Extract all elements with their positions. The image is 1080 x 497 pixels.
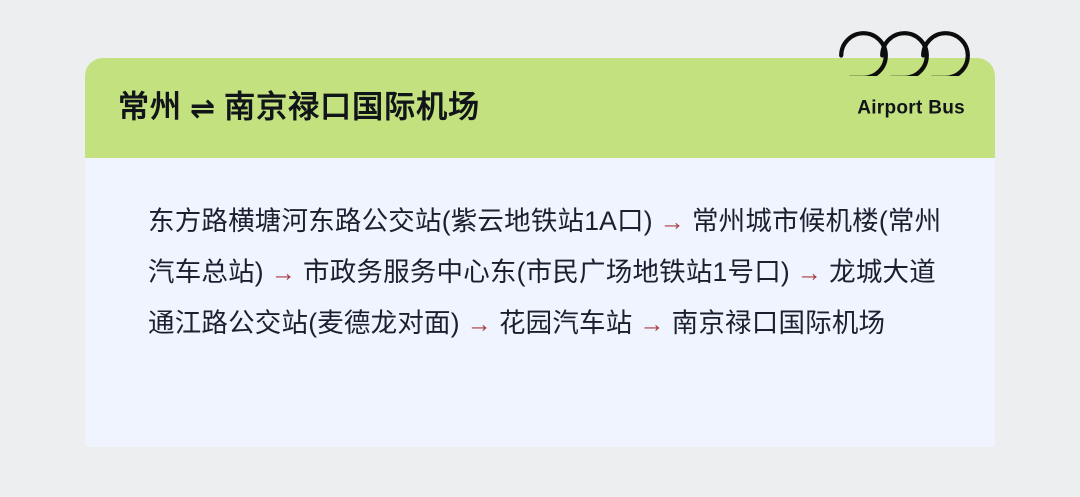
route-card-body: 东方路横塘河东路公交站(紫云地铁站1A口)→常州城市候机楼(常州汽车总站)→市政…: [85, 158, 995, 447]
arrow-right-icon: →: [264, 259, 303, 287]
three-arcs-logo-icon: [838, 26, 970, 76]
route-stop: 市政务服务中心东(市民广场地铁站1号口): [303, 257, 790, 287]
arrow-right-icon: →: [632, 310, 671, 338]
bidirectional-arrow-icon: ⇌: [182, 95, 224, 125]
route-stop: 东方路横塘河东路公交站(紫云地铁站1A口): [148, 206, 653, 236]
route-destination: 南京禄口国际机场: [224, 90, 480, 125]
route-title: 常州⇌南京禄口国际机场: [118, 92, 480, 125]
route-origin: 常州: [118, 90, 182, 125]
brand-label: Airport Bus: [857, 99, 965, 118]
route-stop: 花园汽车站: [499, 308, 633, 338]
arrow-right-icon: →: [653, 208, 692, 236]
screenshot-root: 常州⇌南京禄口国际机场 Airport Bus 东方路横塘河东路公交站(紫云地铁…: [0, 0, 1080, 497]
route-stop: 南京禄口国际机场: [672, 308, 886, 338]
arrow-right-icon: →: [790, 259, 829, 287]
route-stop-list: 东方路横塘河东路公交站(紫云地铁站1A口)→常州城市候机楼(常州汽车总站)→市政…: [148, 196, 955, 349]
arrow-right-icon: →: [460, 310, 499, 338]
route-card: 常州⇌南京禄口国际机场 Airport Bus 东方路横塘河东路公交站(紫云地铁…: [85, 58, 995, 447]
